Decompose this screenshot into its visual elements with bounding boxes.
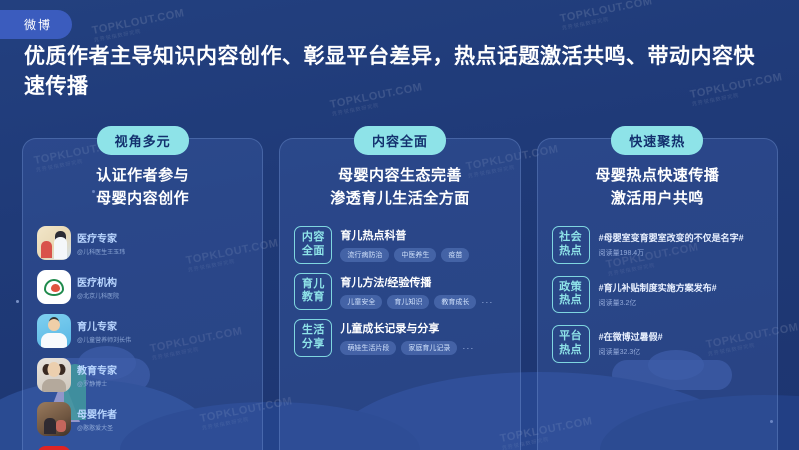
category-badge-line2: 热点	[553, 294, 589, 308]
content-row-list: 内容 全面 育儿热点科普 流行病防治 中医养生 疫苗 育儿	[292, 226, 507, 357]
chip-group: 萌娃生活片段 家庭育儿记录 ···	[340, 341, 505, 355]
hot-topic-hashtag[interactable]: #母婴室变育婴室改变的不仅是名字#	[599, 231, 763, 244]
card-authors: 视角多元 认证作者参与 母婴内容创作 医疗专家 @儿科医生王玉玮 医疗机构	[22, 138, 263, 450]
platform-badge: 微博	[0, 10, 72, 39]
category-badge-line2: 分享	[295, 338, 331, 352]
category-badge-line2: 热点	[553, 245, 589, 259]
card-hot-topics: 快速聚热 母婴热点快速传播 激活用户共鸣 社会 热点 #母婴室变育婴室改变的不仅…	[537, 138, 778, 450]
slide-root: TOPKLOUT.COM克劳锐指数研究院 TOPKLOUT.COM克劳锐指数研究…	[0, 0, 799, 450]
male-doctor-avatar	[37, 314, 71, 348]
list-item[interactable]: 生活 分享 儿童成长记录与分享 萌娃生活片段 家庭育儿记录 ···	[294, 319, 505, 357]
watermark: TOPKLOUT.COM克劳锐指数研究院	[559, 0, 655, 32]
author-type-label: 医疗机构	[77, 274, 119, 289]
category-badge-line2: 教育	[295, 291, 331, 305]
page-title: 优质作者主导知识内容创作、彰显平台差异，热点话题激活共鸣、带动内容快速传播	[24, 42, 776, 102]
hot-topic-read-count: 阅读量32.3亿	[599, 347, 763, 357]
hot-topic-read-count: 阅读量198.4万	[599, 248, 763, 258]
card-pill-label: 内容全面	[354, 126, 446, 155]
list-item[interactable]: 育儿专家 @儿童营养师刘长伟	[37, 314, 147, 348]
list-item[interactable]: 育儿 教育 育儿方法/经验传播 儿童安全 育儿知识 教育成长 ···	[294, 273, 505, 311]
list-item[interactable]: 政策 热点 #育儿补贴制度实施方案发布# 阅读量3.2亿	[552, 276, 763, 314]
hot-topic-read-count: 阅读量3.2亿	[599, 298, 763, 308]
category-badge-line1: 平台	[553, 330, 589, 344]
category-badge-line1: 育儿	[295, 278, 331, 292]
card-pill-label: 快速聚热	[611, 126, 703, 155]
author-type-label: 医疗专家	[77, 230, 125, 245]
hot-topic-list: 社会 热点 #母婴室变育婴室改变的不仅是名字# 阅读量198.4万 政策 热点 …	[550, 226, 765, 363]
card-pill-label: 视角多元	[97, 126, 189, 155]
category-badge-line1: 内容	[295, 231, 331, 245]
chip-group: 流行病防治 中医养生 疫苗	[340, 248, 505, 262]
card-title: 母婴热点快速传播 激活用户共鸣	[550, 165, 765, 210]
watermark: TOPKLOUT.COM克劳锐指数研究院	[91, 7, 187, 44]
list-item[interactable]: 医疗机构 @北京儿科医院	[37, 270, 147, 304]
content-row-title: 儿童成长记录与分享	[340, 320, 505, 336]
category-badge-line2: 热点	[553, 344, 589, 358]
category-badge: 育儿 教育	[294, 273, 332, 311]
author-handle: @北京儿科医院	[77, 291, 119, 300]
list-item[interactable]: 社会 热点 #母婴室变育婴室改变的不仅是名字# 阅读量198.4万	[552, 226, 763, 264]
category-badge-line1: 社会	[553, 231, 589, 245]
more-indicator[interactable]: ···	[462, 343, 474, 353]
author-grid: 医疗专家 @儿科医生王玉玮 医疗机构 @北京儿科医院 育儿专家 @儿童营	[35, 226, 250, 450]
author-type-label: 育儿专家	[77, 318, 131, 333]
list-item[interactable]: 母婴作者 @憨憨爱大圣	[37, 402, 147, 436]
card-title-line2: 母婴内容创作	[35, 188, 250, 211]
chip-group: 儿童安全 育儿知识 教育成长 ···	[340, 295, 505, 309]
doctor-consult-avatar	[37, 226, 71, 260]
tag-chip[interactable]: 疫苗	[441, 248, 469, 262]
author-handle: @罗静博士	[77, 379, 117, 388]
author-handle: @儿童营养师刘长伟	[77, 335, 131, 344]
card-container: 视角多元 认证作者参与 母婴内容创作 医疗专家 @儿科医生王玉玮 医疗机构	[22, 138, 778, 450]
author-type-label: 母婴作者	[77, 406, 117, 421]
tag-chip[interactable]: 流行病防治	[340, 248, 389, 262]
content-row-title: 育儿方法/经验传播	[340, 274, 505, 290]
category-badge-line1: 生活	[295, 324, 331, 338]
list-item[interactable]: 医疗专家 @儿科医生王玉玮	[37, 226, 147, 260]
list-item[interactable]: 教育专家 @罗静博士	[37, 358, 147, 392]
tag-chip[interactable]: 教育成长	[434, 295, 476, 309]
category-badge-line1: 政策	[553, 281, 589, 295]
card-title-line1: 母婴热点快速传播	[550, 165, 765, 188]
card-title: 母婴内容生态完善 渗透育儿生活全方面	[292, 165, 507, 210]
category-badge: 内容 全面	[294, 226, 332, 264]
content-row-title: 育儿热点科普	[340, 227, 505, 243]
parent-child-avatar	[37, 402, 71, 436]
hospital-logo-avatar	[37, 270, 71, 304]
card-title-line2: 渗透育儿生活全方面	[292, 188, 507, 211]
author-type-label: 教育专家	[77, 362, 117, 377]
card-title-line2: 激活用户共鸣	[550, 188, 765, 211]
card-title-line1: 母婴内容生态完善	[292, 165, 507, 188]
tag-chip[interactable]: 萌娃生活片段	[340, 341, 396, 355]
card-title: 认证作者参与 母婴内容创作	[35, 165, 250, 210]
author-handle: @儿科医生王玉玮	[77, 247, 125, 256]
category-badge-line2: 全面	[295, 245, 331, 259]
hot-topic-hashtag[interactable]: #育儿补贴制度实施方案发布#	[599, 281, 763, 294]
list-item[interactable]: 内容 全面 育儿热点科普 流行病防治 中医养生 疫苗	[294, 226, 505, 264]
tag-chip[interactable]: 育儿知识	[387, 295, 429, 309]
category-badge: 平台 热点	[552, 325, 590, 363]
dazhong-daily-logo: 大	[37, 446, 71, 450]
female-expert-avatar	[37, 358, 71, 392]
category-badge: 社会 热点	[552, 226, 590, 264]
author-handle: @憨憨爱大圣	[77, 423, 117, 432]
category-badge: 生活 分享	[294, 319, 332, 357]
tag-chip[interactable]: 儿童安全	[340, 295, 382, 309]
card-content-coverage: 内容全面 母婴内容生态完善 渗透育儿生活全方面 内容 全面 育儿热点科普 流行病…	[279, 138, 520, 450]
hot-topic-hashtag[interactable]: #在微博过暑假#	[599, 330, 763, 343]
star-dot	[16, 300, 19, 303]
tag-chip[interactable]: 家庭育儿记录	[401, 341, 457, 355]
tag-chip[interactable]: 中医养生	[394, 248, 436, 262]
list-item[interactable]: 平台 热点 #在微博过暑假# 阅读量32.3亿	[552, 325, 763, 363]
list-item[interactable]: 大 媒体账号 @大众日报	[37, 446, 147, 450]
category-badge: 政策 热点	[552, 276, 590, 314]
card-title-line1: 认证作者参与	[35, 165, 250, 188]
more-indicator[interactable]: ···	[481, 297, 493, 307]
